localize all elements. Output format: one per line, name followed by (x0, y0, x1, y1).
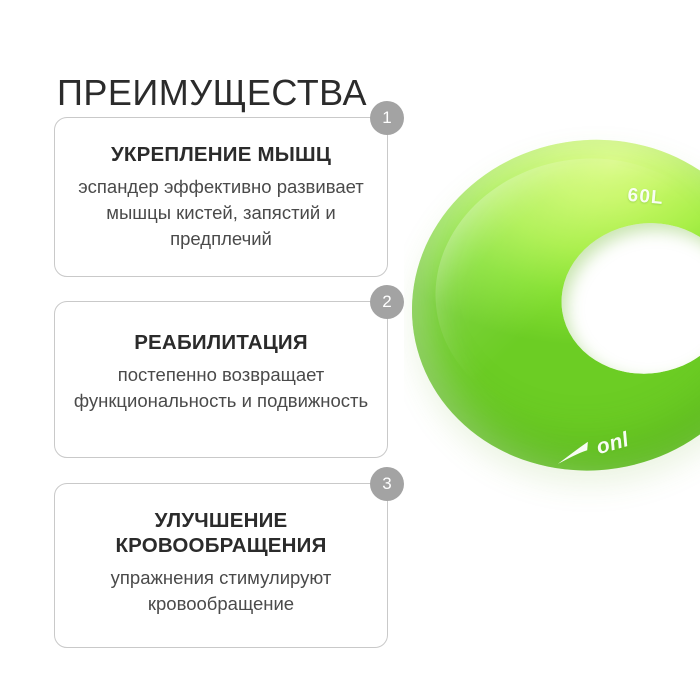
benefit-card-1: 1 УКРЕПЛЕНИЕ МЫШЦ эспандер эффективно ра… (54, 117, 388, 277)
benefits-list: 1 УКРЕПЛЕНИЕ МЫШЦ эспандер эффективно ра… (54, 117, 394, 648)
promo-banner: ПРЕИМУЩЕСТВА 1 УКРЕПЛЕНИЕ МЫШЦ эспандер … (0, 0, 700, 700)
benefit-title: РЕАБИЛИТАЦИЯ (71, 330, 371, 355)
benefit-description: эспандер эффективно развивает мышцы кист… (71, 174, 371, 252)
benefit-description: постепенно возвращает функциональность и… (71, 362, 371, 414)
benefit-description: упражнения стимулируют кровообращение (71, 565, 371, 617)
ring-expander-graphic: 60L onl (404, 114, 700, 526)
benefit-number-badge: 1 (370, 101, 404, 135)
page-title: ПРЕИМУЩЕСТВА (57, 71, 367, 115)
benefit-number-badge: 3 (370, 467, 404, 501)
product-image: 60L onl (404, 110, 700, 530)
benefit-card-2: 2 РЕАБИЛИТАЦИЯ постепенно возвращает фун… (54, 301, 388, 458)
benefit-card-3: 3 УЛУЧШЕНИЕ КРОВООБРАЩЕНИЯ упражнения ст… (54, 483, 388, 648)
benefit-number-badge: 2 (370, 285, 404, 319)
benefit-title: УЛУЧШЕНИЕ КРОВООБРАЩЕНИЯ (71, 508, 371, 558)
ring-weight-label: 60L (627, 185, 665, 210)
benefit-title: УКРЕПЛЕНИЕ МЫШЦ (71, 142, 371, 167)
